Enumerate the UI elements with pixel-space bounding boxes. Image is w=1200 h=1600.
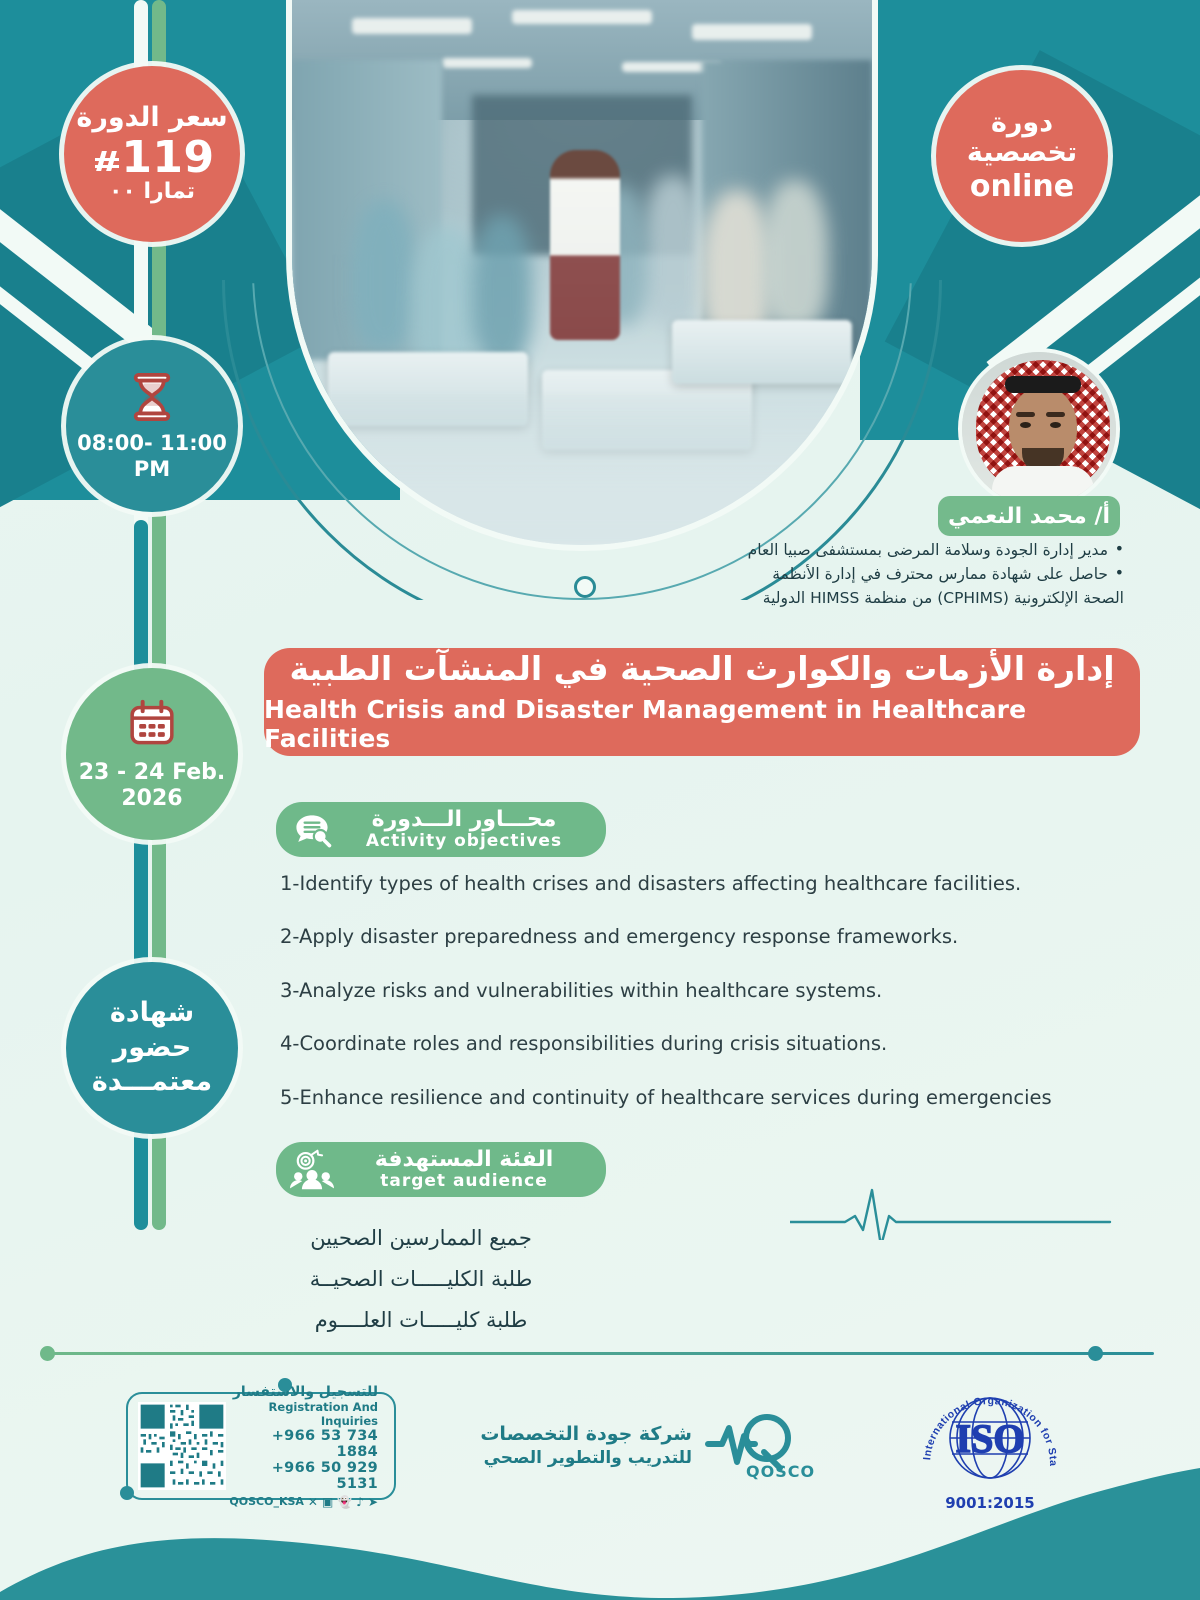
registration-label-arabic: للتسجيل والاستفسار — [226, 1384, 378, 1400]
footer-dot-left — [40, 1346, 55, 1361]
objectives-list: 1-Identify types of health crises and di… — [280, 872, 1110, 1139]
certificate-line-1: شهادة حضور — [66, 996, 238, 1065]
speaker-igal — [1005, 376, 1081, 393]
hourglass-icon — [124, 369, 180, 425]
online-badge: دورة تخصصية online — [936, 70, 1108, 242]
objective-item: 5-Enhance resilience and continuity of h… — [280, 1086, 1110, 1109]
speaker-bio-item: مدير إدارة الجودة وسلامة المرضى بمستشفى … — [724, 538, 1124, 562]
date-year: 2026 — [121, 786, 182, 812]
course-title-arabic: إدارة الأزمات والكوارث الصحية في المنشآت… — [289, 651, 1114, 687]
footer-dot-right — [1088, 1346, 1103, 1361]
objectives-pill: محـــاور الـــدورة Activity objectives — [276, 802, 606, 857]
speaker-bio-item: حاصل على شهادة ممارس محترف في إدارة الأن… — [724, 562, 1124, 586]
online-badge-english: online — [970, 170, 1074, 204]
time-period: PM — [134, 457, 170, 483]
ceiling-light-4 — [442, 58, 532, 68]
audience-item: طلبة كليـــــات العلــــوم — [276, 1300, 566, 1341]
saudi-riyal-icon — [95, 148, 121, 176]
ceiling-light-3 — [692, 24, 812, 40]
speaker-bio-list: مدير إدارة الجودة وسلامة المرضى بمستشفى … — [724, 538, 1124, 610]
time-value: 08:00- 11:00 — [77, 431, 227, 457]
ceiling-light-1 — [352, 18, 472, 34]
course-title-english: Health Crisis and Disaster Management in… — [264, 695, 1140, 753]
heartbeat-line-icon — [790, 1180, 1120, 1240]
audience-pill-arabic: الفئة المستهدفة — [375, 1148, 554, 1172]
price-installment-label: تمارا ٠٠ — [109, 180, 195, 205]
date-badge: 23 - 24 Feb. 2026 — [66, 668, 238, 840]
audience-pill: الفئة المستهدفة target audience — [276, 1142, 606, 1197]
objectives-pill-arabic: محـــاور الـــدورة — [372, 808, 557, 832]
objective-item: 3-Analyze risks and vulnerabilities with… — [280, 979, 1110, 1002]
audience-item: طلبة الكليـــــات الصحيــة — [276, 1259, 566, 1300]
online-badge-arabic: دورة تخصصية — [936, 108, 1108, 168]
course-title-card: إدارة الأزمات والكوارث الصحية في المنشآت… — [264, 648, 1140, 756]
footer-wave-decoration — [0, 1420, 1200, 1600]
price-badge: سعر الدورة 119 تمارا ٠٠ — [64, 66, 240, 242]
calendar-icon — [124, 696, 180, 752]
objective-item: 1-Identify types of health crises and di… — [280, 872, 1110, 895]
objectives-pill-english: Activity objectives — [366, 832, 562, 850]
footer-separator — [44, 1352, 1154, 1355]
arc-end-dot — [574, 576, 596, 598]
ceiling-light-2 — [512, 10, 652, 24]
audience-item: جميع الممارسين الصحيين — [276, 1218, 566, 1259]
speaker-avatar — [958, 348, 1120, 510]
date-range: 23 - 24 Feb. — [79, 760, 226, 786]
objective-item: 2-Apply disaster preparedness and emerge… — [280, 925, 1110, 948]
price-amount: 119 — [121, 132, 214, 183]
chat-bubble-list-icon — [290, 808, 334, 852]
price-amount-row: 119 — [89, 133, 214, 182]
audience-pill-text: الفئة المستهدفة target audience — [344, 1148, 584, 1190]
objectives-pill-text: محـــاور الـــدورة Activity objectives — [344, 808, 584, 850]
speaker-name-chip: أ/ محمد النعمي — [938, 496, 1120, 536]
time-badge: 08:00- 11:00 PM — [66, 340, 238, 512]
target-people-icon — [290, 1148, 334, 1192]
poster-root: سعر الدورة 119 تمارا ٠٠ دورة تخصصية onli… — [0, 0, 1200, 1600]
price-label: سعر الدورة — [76, 103, 227, 133]
audience-list: جميع الممارسين الصحيين طلبة الكليـــــات… — [276, 1218, 566, 1341]
certificate-badge: شهادة حضور معتمـــدة — [66, 962, 238, 1134]
speaker-bio-item: الصحة الإلكترونية (CPHIMS) من منظمة HIMS… — [724, 586, 1124, 610]
audience-pill-english: target audience — [380, 1172, 548, 1190]
certificate-line-2: معتمـــدة — [92, 1065, 212, 1100]
objective-item: 4-Coordinate roles and responsibilities … — [280, 1032, 1110, 1055]
